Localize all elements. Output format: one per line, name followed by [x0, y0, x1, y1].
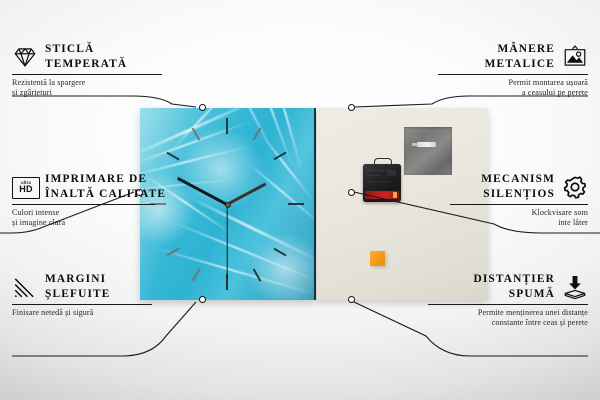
- feature-subtitle: Permite menținerea unei distanțe constan…: [428, 308, 588, 329]
- feature-subtitle-line2: și zgârieturi: [12, 88, 52, 97]
- movement-hanger-loop: [374, 158, 392, 168]
- movement-detail: [367, 181, 391, 182]
- feature-header: MECANISM SILENȚIOS: [450, 172, 588, 201]
- feature-subtitle-line2: constante între ceas și perete: [492, 318, 588, 327]
- feature-divider: [428, 304, 588, 305]
- feature-header: MARGINI ȘLEFUITE: [12, 272, 152, 301]
- ultra-hd-icon: ultra HD: [12, 177, 38, 197]
- feature-divider: [438, 74, 588, 75]
- feature-subtitle: Klockvisare som inte låter: [450, 208, 588, 229]
- feature-title: MÂNERE METALICE: [485, 42, 555, 71]
- feature-divider: [12, 204, 155, 205]
- feature-title-line1: MÂNERE: [497, 43, 555, 55]
- feature-subtitle-line1: Rezistentă la spargere: [12, 78, 86, 87]
- feature-title-line2: ÎNALTĂ CALITATE: [45, 188, 166, 200]
- clock-tick-12: [226, 118, 228, 134]
- metal-hanger-plate: [404, 127, 452, 175]
- ultra-hd-badge-large: HD: [19, 185, 32, 194]
- polished-edges-icon: [12, 274, 38, 300]
- feature-polished-edges: MARGINI ȘLEFUITE Finisare netedă și sigu…: [12, 272, 152, 318]
- feature-subtitle-line1: Culori intense: [12, 208, 59, 217]
- feature-header: STICLĂ TEMPERATĂ: [12, 42, 162, 71]
- feather-glow: [244, 234, 316, 300]
- feature-subtitle-line2: a ceasului pe perete: [522, 88, 588, 97]
- feature-subtitle: Rezistentă la spargere și zgârieturi: [12, 78, 162, 99]
- feature-title-line2: TEMPERATĂ: [45, 58, 127, 70]
- callout-dot-foam-spacer: [348, 296, 355, 303]
- picture-hanger-icon: [562, 44, 588, 70]
- feature-print-quality: ultra HD IMPRIMARE DE ÎNALTĂ CALITATE Cu…: [12, 172, 155, 228]
- feature-divider: [12, 304, 152, 305]
- battery: [365, 191, 399, 200]
- clock-second-hand: [226, 204, 227, 278]
- ultra-hd-badge: ultra HD: [12, 177, 40, 199]
- movement-detail: [387, 170, 396, 176]
- feature-title-line1: MARGINI: [45, 273, 106, 285]
- feature-tempered-glass: STICLĂ TEMPERATĂ Rezistentă la spargere …: [12, 42, 162, 98]
- hanger-slot-secondary: [412, 143, 417, 147]
- spacer-press-icon: [562, 274, 588, 300]
- clock-front-panel: [140, 108, 316, 300]
- hanger-slot: [417, 142, 436, 147]
- feature-title-line1: MECANISM: [481, 173, 555, 185]
- feature-subtitle-line2: inte låter: [558, 218, 588, 227]
- feature-subtitle-line1: Permit montarea ușoară: [508, 78, 588, 87]
- feature-foam-spacer: DISTANȚIER SPUMĂ Permite menținerea unei…: [428, 272, 588, 328]
- clock-movement-box: [363, 164, 401, 202]
- callout-dot-tempered-glass: [199, 104, 206, 111]
- feature-header: MÂNERE METALICE: [438, 42, 588, 71]
- feature-subtitle-line2: și imagine clară: [12, 218, 65, 227]
- feature-title: DISTANȚIER SPUMĂ: [473, 272, 555, 301]
- feature-header: DISTANȚIER SPUMĂ: [428, 272, 588, 301]
- callout-dot-metal-handles: [348, 104, 355, 111]
- feature-title: MARGINI ȘLEFUITE: [45, 272, 111, 301]
- feature-subtitle-line1: Finisare netedă și sigură: [12, 308, 93, 317]
- foam-spacer-pad: [370, 251, 385, 266]
- feature-divider: [450, 204, 588, 205]
- feature-divider: [12, 74, 162, 75]
- feature-title-line2: SILENȚIOS: [483, 188, 555, 200]
- feature-title: MECANISM SILENȚIOS: [481, 172, 555, 201]
- feature-title-line2: SPUMĂ: [509, 288, 555, 300]
- callout-dot-polished-edges: [199, 296, 206, 303]
- feature-title-line2: METALICE: [485, 58, 555, 70]
- diamond-icon: [12, 44, 38, 70]
- feature-title: STICLĂ TEMPERATĂ: [45, 42, 127, 71]
- feature-header: ultra HD IMPRIMARE DE ÎNALTĂ CALITATE: [12, 172, 155, 201]
- movement-detail: [367, 170, 385, 171]
- feature-title: IMPRIMARE DE ÎNALTĂ CALITATE: [45, 172, 166, 201]
- feature-title-line1: DISTANȚIER: [473, 273, 555, 285]
- feature-subtitle: Finisare netedă și sigură: [12, 308, 152, 318]
- feature-title-line2: ȘLEFUITE: [45, 288, 111, 300]
- gear-icon: [562, 174, 588, 200]
- feature-silent-mechanism: MECANISM SILENȚIOS Klockvisare som inte …: [450, 172, 588, 228]
- feature-subtitle-line1: Klockvisare som: [532, 208, 588, 217]
- callout-dot-silent-mechanism: [348, 189, 355, 196]
- feature-subtitle-line1: Permite menținerea unei distanțe: [478, 308, 588, 317]
- feature-subtitle: Culori intense și imagine clară: [12, 208, 155, 229]
- clock-pivot: [225, 202, 231, 208]
- feature-subtitle: Permit montarea ușoară a ceasului pe per…: [438, 78, 588, 99]
- battery-terminal: [393, 192, 397, 198]
- product-infographic: STICLĂ TEMPERATĂ Rezistentă la spargere …: [0, 0, 600, 400]
- feature-title-line1: IMPRIMARE DE: [45, 173, 147, 185]
- movement-detail: [367, 175, 381, 176]
- feature-title-line1: STICLĂ: [45, 43, 94, 55]
- clock-tick-3: [288, 203, 304, 205]
- feature-metal-handles: MÂNERE METALICE Permit montarea ușoară a…: [438, 42, 588, 98]
